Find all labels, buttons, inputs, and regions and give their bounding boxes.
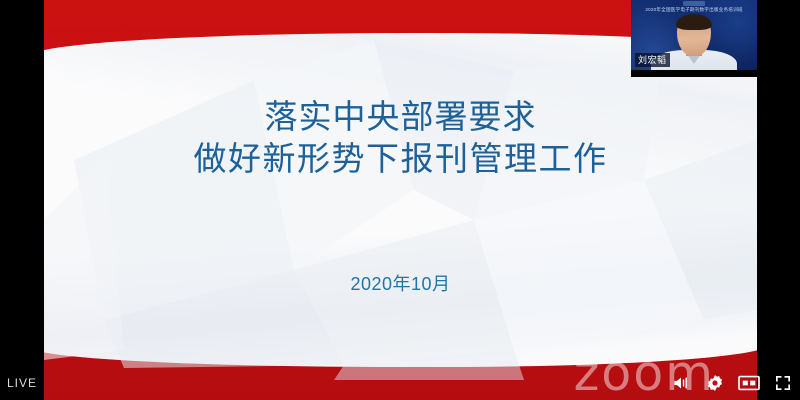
slide-title-line-1: 落实中央部署要求 xyxy=(44,96,757,138)
gear-icon xyxy=(705,373,725,393)
settings-button[interactable] xyxy=(698,366,732,400)
thumbnail-bottom-strip xyxy=(631,70,757,77)
closed-caption-button[interactable] xyxy=(732,366,766,400)
video-player: 落实中央部署要求 做好新形势下报刊管理工作 2020年10月 zoom 2020… xyxy=(0,0,800,400)
slide-white-panel xyxy=(44,33,757,367)
speaker-hair xyxy=(676,14,712,30)
letterbox-left xyxy=(0,0,44,400)
letterbox-right xyxy=(757,0,800,400)
player-controls-group xyxy=(664,366,800,400)
live-badge: LIVE xyxy=(0,366,44,400)
volume-icon xyxy=(671,373,691,393)
speaker-video-thumbnail[interactable]: 2020年全国医学电子期刊数字出版业务培训班 刘宏韬 xyxy=(631,0,757,77)
speaker-name-label: 刘宏韬 xyxy=(635,53,670,67)
slide-date: 2020年10月 xyxy=(44,270,757,296)
backdrop-logo xyxy=(683,1,705,6)
fullscreen-button[interactable] xyxy=(766,366,800,400)
backdrop-banner-text: 2020年全国医学电子期刊数字出版业务培训班 xyxy=(631,7,757,13)
closed-caption-icon xyxy=(738,373,760,393)
slide-title-block: 落实中央部署要求 做好新形势下报刊管理工作 xyxy=(44,96,757,180)
slide-title-line-2: 做好新形势下报刊管理工作 xyxy=(44,138,757,180)
volume-button[interactable] xyxy=(664,366,698,400)
fullscreen-icon xyxy=(773,373,793,393)
